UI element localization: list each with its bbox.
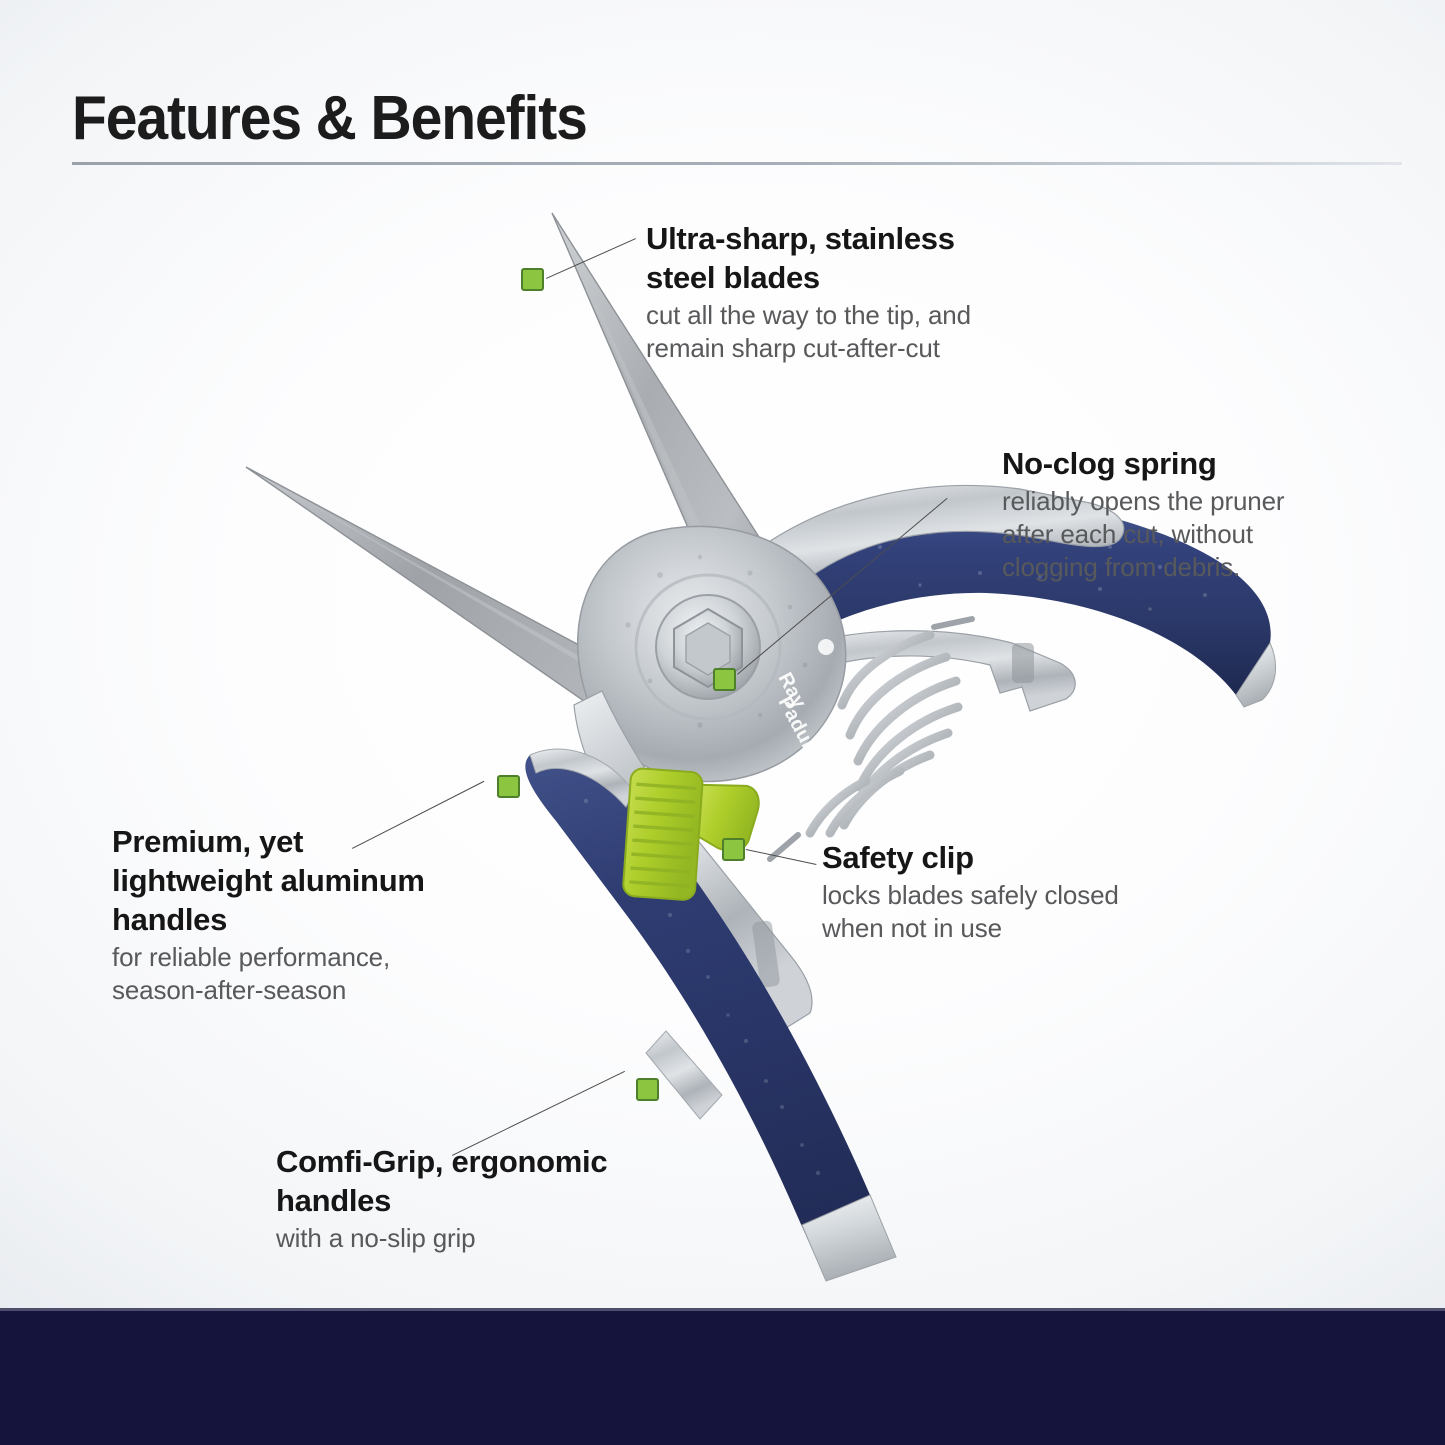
marker-grip[interactable]	[636, 1078, 659, 1101]
callout-grip-heading: Comfi-Grip, ergonomic handles	[276, 1142, 616, 1220]
callout-spring-heading: No-clog spring	[1002, 444, 1318, 483]
callout-grip-body: with a no-slip grip	[276, 1222, 616, 1255]
callout-safety-clip: Safety clip locks blades safely closed w…	[822, 838, 1132, 945]
callout-blades-heading: Ultra-sharp, stainless steel blades	[646, 219, 1006, 297]
callout-safety-clip-body: locks blades safely closed when not in u…	[822, 879, 1132, 945]
footer-band	[0, 1308, 1445, 1445]
callout-blades: Ultra-sharp, stainless steel blades cut …	[646, 219, 1006, 365]
marker-handles[interactable]	[497, 775, 520, 798]
title-underline-rule	[72, 162, 1402, 165]
callout-handles-body: for reliable performance, season-after-s…	[112, 941, 442, 1007]
infographic-page: Features & Benefits	[0, 0, 1445, 1445]
callout-handles: Premium, yet lightweight aluminum handle…	[112, 822, 442, 1007]
callout-safety-clip-heading: Safety clip	[822, 838, 1132, 877]
callout-spring-body: reliably opens the pruner after each cut…	[1002, 485, 1318, 584]
page-title: Features & Benefits	[72, 88, 1296, 150]
marker-blades[interactable]	[521, 268, 544, 291]
title-block: Features & Benefits	[72, 88, 1402, 150]
marker-spring[interactable]	[713, 668, 736, 691]
safety-clip	[622, 768, 759, 901]
callout-grip: Comfi-Grip, ergonomic handles with a no-…	[276, 1142, 616, 1255]
callout-handles-heading: Premium, yet lightweight aluminum handle…	[112, 822, 442, 939]
callout-spring: No-clog spring reliably opens the pruner…	[1002, 444, 1318, 584]
marker-safety-clip[interactable]	[722, 838, 745, 861]
callout-blades-body: cut all the way to the tip, and remain s…	[646, 299, 1006, 365]
